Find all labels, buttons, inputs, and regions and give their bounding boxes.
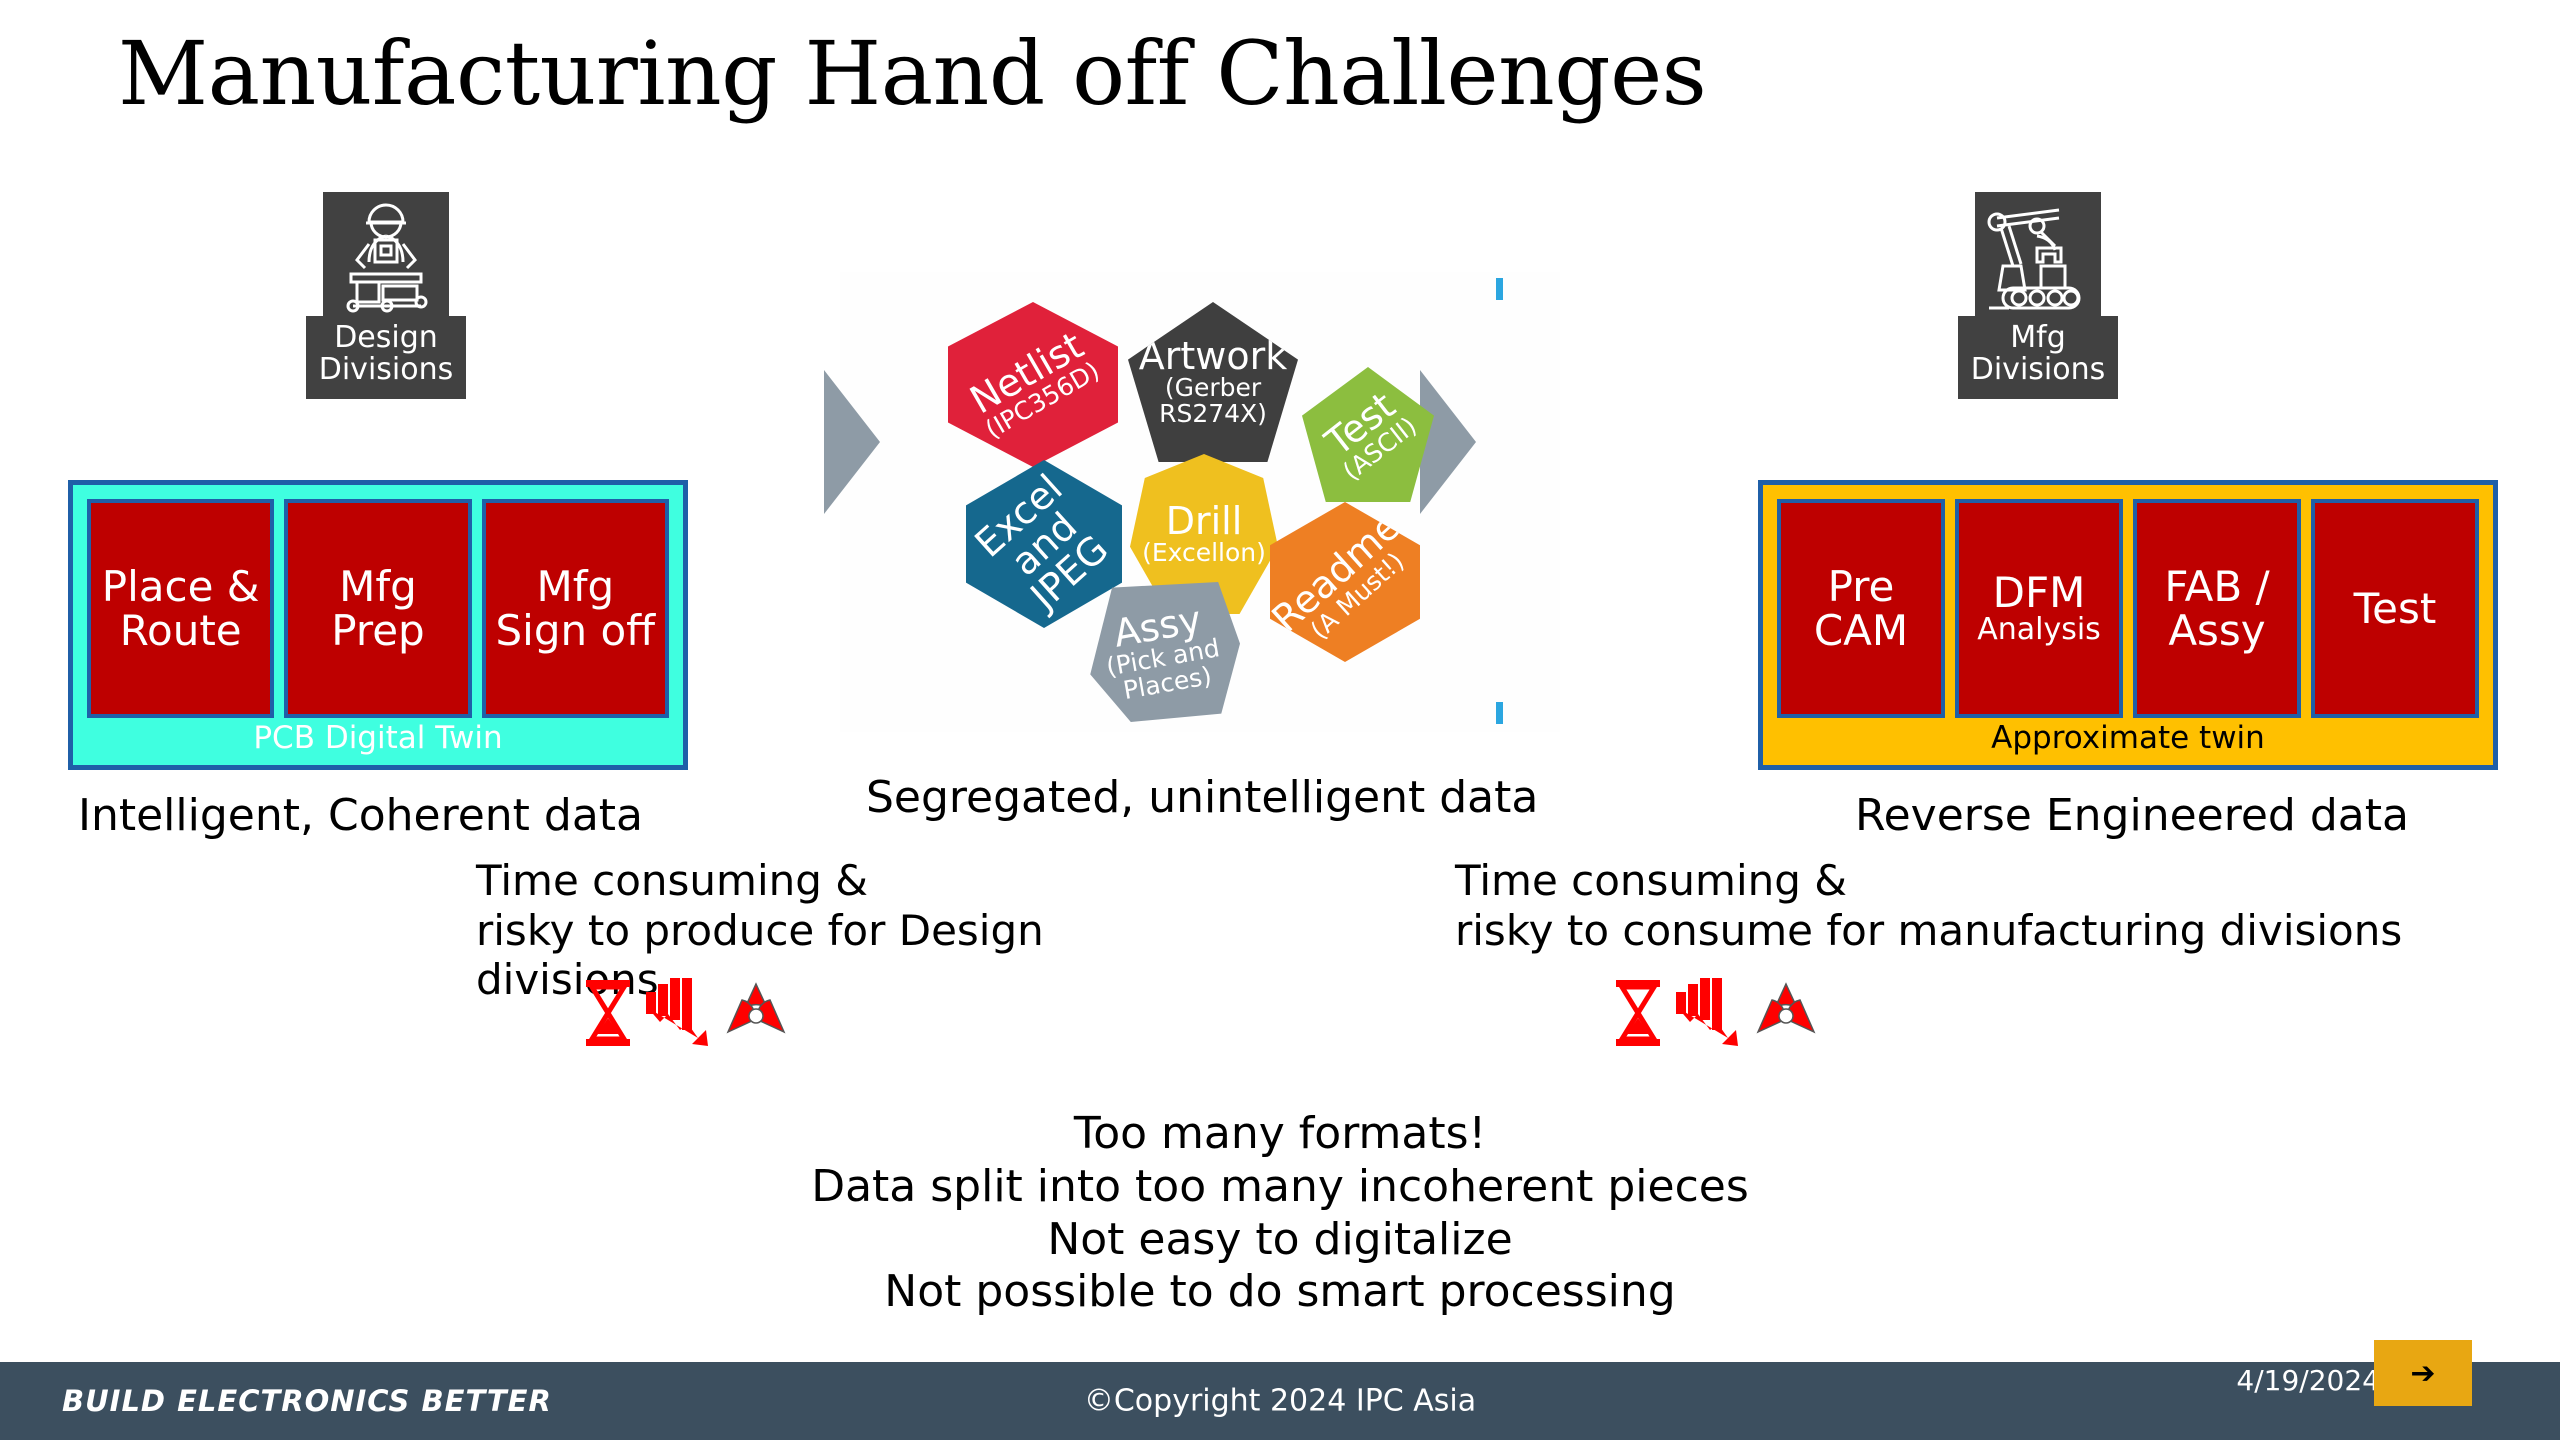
mfg-risk-line-1: Time consuming & (1455, 856, 2402, 906)
pcb-digital-twin-label: PCB Digital Twin (73, 718, 683, 765)
blue-tick-bottom-icon (1496, 702, 1503, 724)
mfg-risk-icons (1612, 978, 1818, 1048)
radioactive-icon (1754, 980, 1818, 1048)
format-artwork-sub: (Gerber RS274X) (1128, 375, 1298, 428)
stage-cell-pre-cam[interactable]: Pre CAM (1777, 499, 1945, 718)
blue-tick-top-icon (1496, 278, 1503, 300)
summary-line-2: Data split into too many incoherent piec… (0, 1161, 2560, 1214)
summary-line-3: Not easy to digitalize (0, 1214, 2560, 1267)
formats-diagram: Netlist (IPC356D) Artwork (Gerber RS274X… (840, 272, 1560, 732)
format-artwork-title: Artwork (1128, 337, 1298, 375)
format-assy[interactable]: Assy (Pick and Places) (1084, 582, 1240, 722)
summary-line-1: Too many formats! (0, 1108, 2560, 1161)
page-title: Manufacturing Hand off Challenges (118, 30, 1706, 118)
stage-cell-dfm-title: DFM (1993, 568, 2086, 617)
left-panel-caption: Intelligent, Coherent data (78, 790, 643, 841)
design-risk-line-1: Time consuming & (476, 856, 1044, 906)
right-panel-caption: Reverse Engineered data (1855, 790, 2409, 841)
stage-cell-mfg-prep[interactable]: Mfg Prep (284, 499, 471, 718)
format-drill-sub: (Excellon) (1142, 540, 1266, 566)
footer-date: 4/19/2024 (2230, 1366, 2380, 1397)
stage-cell-dfm-sub: Analysis (1977, 615, 2101, 646)
mfg-risk-line-2: risky to consume for manufacturing divis… (1455, 906, 2402, 956)
summary-text: Too many formats! Data split into too ma… (0, 1108, 2560, 1319)
stage-cell-mfg-signoff[interactable]: Mfg Sign off (482, 499, 669, 718)
center-caption: Segregated, unintelligent data (866, 772, 1538, 823)
radioactive-icon (724, 980, 788, 1048)
stage-cell-fab-assy[interactable]: FAB / Assy (2133, 499, 2301, 718)
mfg-stage-row: Pre CAM DFM Analysis FAB / Assy Test (1763, 485, 2493, 718)
robot-arm-icon (1975, 192, 2101, 320)
worker-at-bench-icon (323, 192, 449, 320)
stage-cell-dfm[interactable]: DFM Analysis (1955, 499, 2123, 718)
slide-canvas: Manufacturing Hand off Challenges (0, 0, 2560, 1440)
format-netlist[interactable]: Netlist (IPC356D) (948, 302, 1118, 467)
design-divisions-label: Design Divisions (306, 316, 466, 399)
format-excel-jpeg[interactable]: Excel and JPEG (966, 460, 1122, 628)
design-stage-row: Place & Route Mfg Prep Mfg Sign off (73, 485, 683, 718)
format-artwork[interactable]: Artwork (Gerber RS274X) (1128, 302, 1298, 462)
design-stage-panel: Place & Route Mfg Prep Mfg Sign off PCB … (68, 480, 688, 770)
footer-tagline: BUILD ELECTRONICS BETTER (62, 1384, 552, 1418)
hourglass-icon (1612, 978, 1664, 1048)
declining-chart-icon (646, 978, 712, 1048)
hourglass-icon (582, 978, 634, 1048)
footer-copyright: ©Copyright 2024 IPC Asia (1084, 1384, 1476, 1419)
mfg-risk-text: Time consuming & risky to consume for ma… (1455, 856, 2402, 955)
mfg-stage-panel: Pre CAM DFM Analysis FAB / Assy Test App… (1758, 480, 2498, 770)
design-risk-line-2: risky to produce for Design (476, 906, 1044, 956)
arrow-right-icon-left (824, 370, 880, 514)
mfg-divisions-label: Mfg Divisions (1958, 316, 2118, 399)
next-slide-button[interactable]: ➔ (2374, 1340, 2472, 1406)
summary-line-4: Not possible to do smart processing (0, 1266, 2560, 1319)
design-risk-icons (582, 978, 788, 1048)
stage-cell-place-route[interactable]: Place & Route (87, 499, 274, 718)
format-test[interactable]: Test (ASCII) (1302, 367, 1434, 502)
arrow-right-icon-right (1420, 370, 1476, 514)
approximate-twin-label: Approximate twin (1763, 718, 2493, 765)
format-drill-title: Drill (1142, 502, 1266, 540)
slide-footer: BUILD ELECTRONICS BETTER ©Copyright 2024… (0, 1362, 2560, 1440)
declining-chart-icon (1676, 978, 1742, 1048)
stage-cell-test[interactable]: Test (2311, 499, 2479, 718)
mfg-divisions-badge: Mfg Divisions (1958, 192, 2118, 399)
format-readme[interactable]: Readme (A Must!) (1270, 502, 1420, 662)
design-divisions-badge: Design Divisions (306, 192, 466, 399)
